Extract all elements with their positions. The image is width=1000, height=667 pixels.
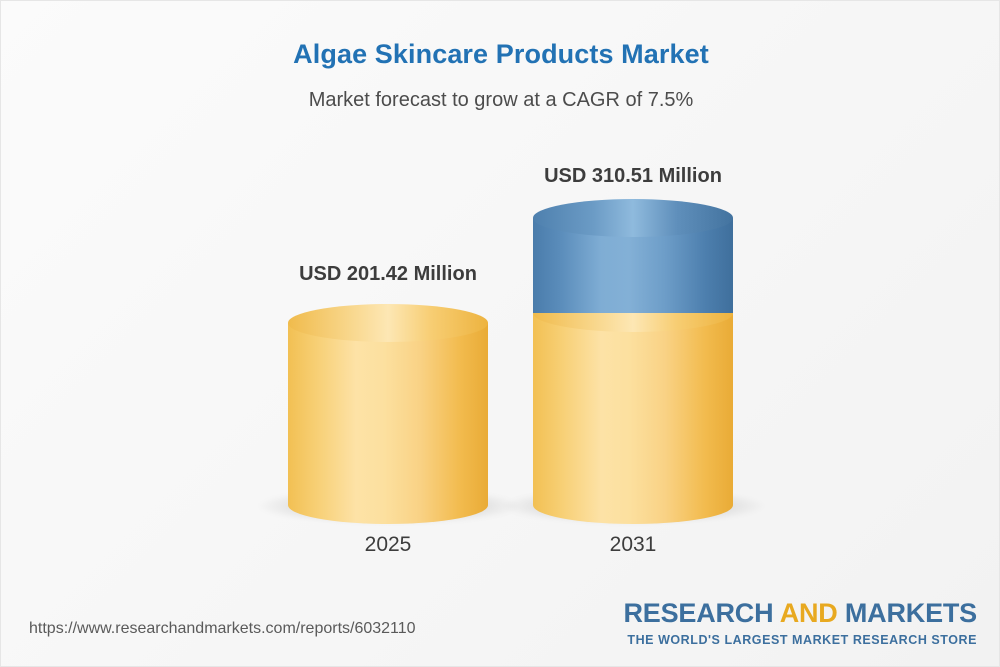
logo-markets: MARKETS [845,598,977,628]
bar-2025[interactable] [288,304,488,509]
bar-2025-value-label: USD 201.42 Million [188,263,588,286]
bar-2025-body [288,323,488,505]
bar-2031-top [533,199,733,237]
logo: RESEARCH AND MARKETS THE WORLD'S LARGEST… [623,600,977,647]
page-title: Algae Skincare Products Market [1,39,1000,70]
logo-wordmark: RESEARCH AND MARKETS [623,600,977,627]
bar-2031-category-label: 2031 [433,533,833,557]
bar-2031[interactable] [533,199,733,509]
logo-tagline: THE WORLD'S LARGEST MARKET RESEARCH STOR… [623,634,977,647]
chart-canvas: Algae Skincare Products Market Market fo… [0,0,1000,667]
logo-research: RESEARCH [623,598,779,628]
bar-2031-value-label: USD 310.51 Million [433,165,833,188]
logo-and: AND [780,598,845,628]
chart-subtitle: Market forecast to grow at a CAGR of 7.5… [1,89,1000,112]
source-url[interactable]: https://www.researchandmarkets.com/repor… [29,620,416,638]
bar-2025-top [288,304,488,342]
bar-2031-lower-body [533,313,733,505]
